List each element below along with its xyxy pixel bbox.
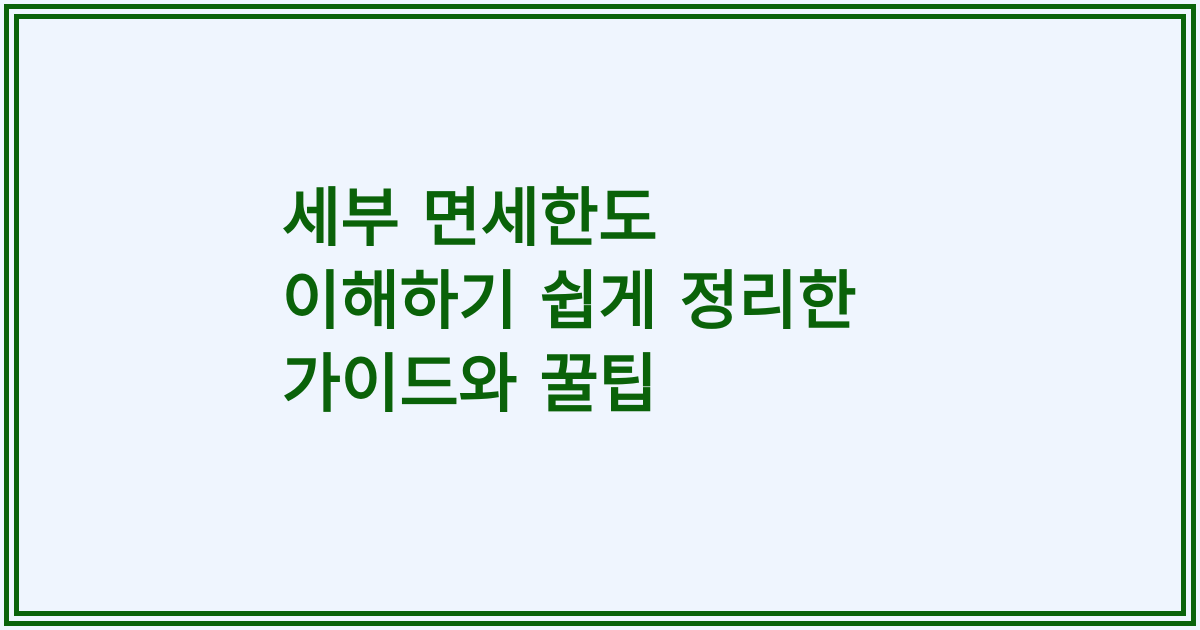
title-line-1: 세부 면세한도 bbox=[282, 178, 982, 261]
title-line-2: 이해하기 쉽게 정리한 bbox=[282, 261, 982, 344]
thumbnail-canvas: 세부 면세한도 이해하기 쉽게 정리한 가이드와 꿀팁 bbox=[0, 0, 1200, 630]
page-title: 세부 면세한도 이해하기 쉽게 정리한 가이드와 꿀팁 bbox=[282, 178, 982, 427]
title-line-3: 가이드와 꿀팁 bbox=[282, 344, 982, 427]
